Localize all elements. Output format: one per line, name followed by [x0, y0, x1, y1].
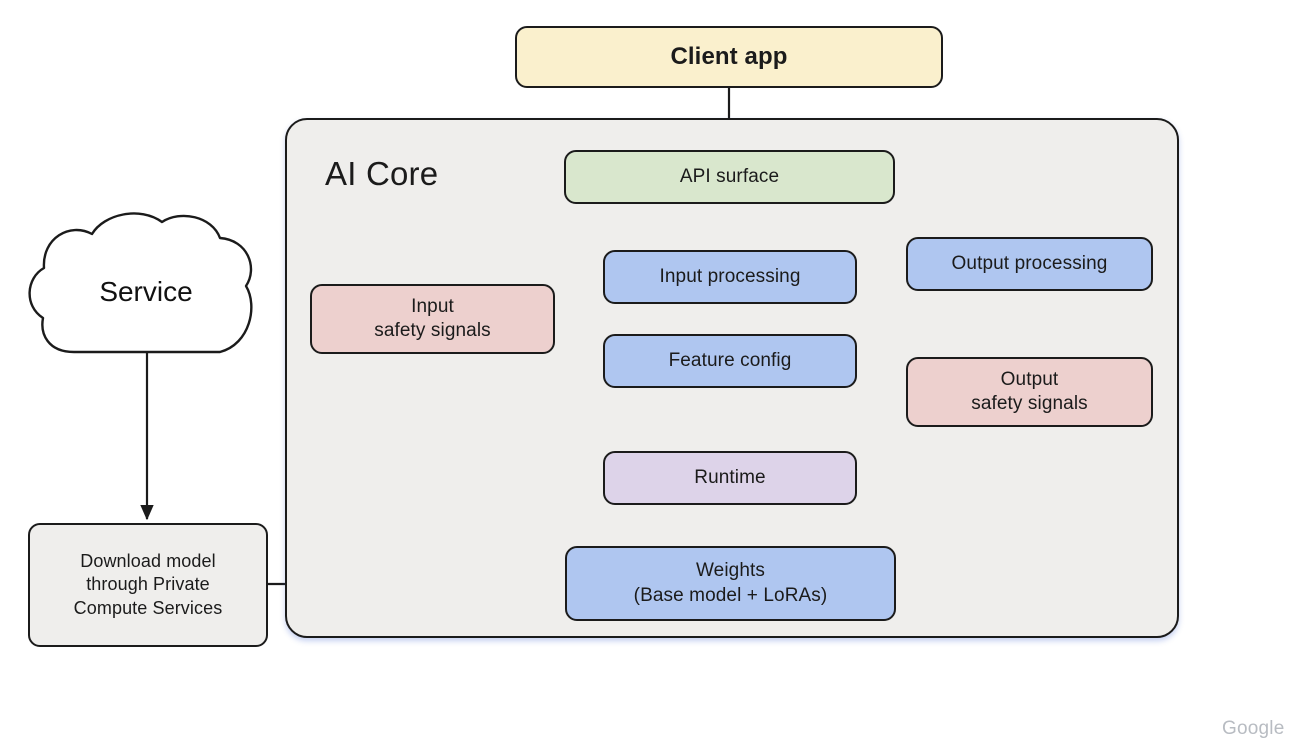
node-input-processing[interactable]: Input processing — [603, 250, 857, 304]
node-weights[interactable]: Weights (Base model + LoRAs) — [565, 546, 896, 621]
node-download-model-label: Download model through Private Compute S… — [74, 550, 223, 619]
node-weights-label: Weights (Base model + LoRAs) — [634, 559, 828, 608]
node-runtime-label: Runtime — [694, 466, 765, 490]
node-service-label: Service — [40, 276, 252, 308]
node-runtime[interactable]: Runtime — [603, 451, 857, 505]
node-output-processing[interactable]: Output processing — [906, 237, 1153, 291]
node-api-surface-label: API surface — [680, 165, 779, 189]
node-output-safety-signals-label: Output safety signals — [971, 368, 1088, 417]
ai-core-title: AI Core — [325, 155, 438, 193]
node-client-app[interactable]: Client app — [515, 26, 943, 88]
node-feature-config-label: Feature config — [669, 349, 792, 373]
node-download-model[interactable]: Download model through Private Compute S… — [28, 523, 268, 647]
node-input-safety-signals-label: Input safety signals — [374, 295, 491, 344]
node-feature-config[interactable]: Feature config — [603, 334, 857, 388]
node-input-safety-signals[interactable]: Input safety signals — [310, 284, 555, 354]
node-api-surface[interactable]: API surface — [564, 150, 895, 204]
node-output-safety-signals[interactable]: Output safety signals — [906, 357, 1153, 427]
node-client-app-label: Client app — [670, 42, 787, 73]
node-input-processing-label: Input processing — [659, 265, 800, 289]
diagram-canvas: AI Core Client app Service Download mode… — [0, 0, 1304, 756]
node-output-processing-label: Output processing — [952, 252, 1108, 276]
google-watermark: Google — [1222, 718, 1284, 740]
